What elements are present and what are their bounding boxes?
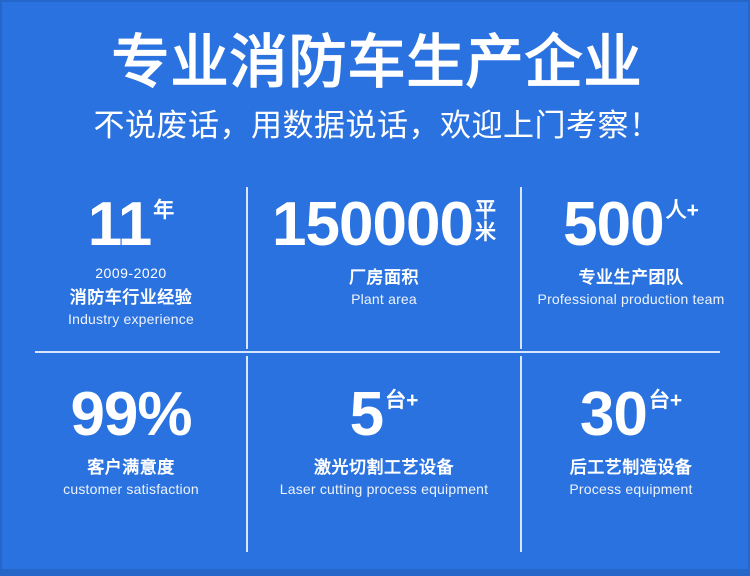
stat-unit: 年 — [153, 188, 174, 222]
stat-card-plant-area: 150000平米 厂房面积 Plant area — [248, 188, 520, 353]
stat-value: 30台+ — [522, 378, 740, 452]
stat-label-cn: 厂房面积 — [248, 266, 520, 289]
stat-label-cn: 客户满意度 — [16, 456, 246, 479]
stat-unit: 人+ — [666, 188, 699, 222]
stat-card-process-equipment: 30台+ 后工艺制造设备 Process equipment — [522, 378, 740, 543]
banner-header: 专业消防车生产企业 不说废话，用数据说话，欢迎上门考察！ — [2, 2, 750, 162]
stat-card-customer-satisfaction: 99% 客户满意度 customer satisfaction — [16, 378, 246, 543]
stat-label-en: Industry experience — [16, 310, 246, 329]
stats-banner: 专业消防车生产企业 不说废话，用数据说话，欢迎上门考察！ 11年 2009-20… — [0, 0, 750, 576]
divider-vertical-left-bottom — [246, 356, 248, 552]
bottom-accent-strip — [2, 569, 750, 574]
stat-label-cn: 专业生产团队 — [522, 266, 740, 289]
stat-value: 99% — [16, 378, 246, 452]
divider-horizontal — [35, 351, 720, 353]
divider-vertical-right-top — [520, 187, 522, 349]
divider-vertical-left-top — [246, 187, 248, 349]
stat-label-cn: 消防车行业经验 — [16, 286, 246, 309]
stats-grid: 11年 2009-2020 消防车行业经验 Industry experienc… — [2, 180, 750, 560]
stat-unit: 台+ — [385, 378, 418, 412]
stat-range: 2009-2020 — [16, 264, 246, 282]
stat-label-cn: 后工艺制造设备 — [522, 456, 740, 479]
stat-unit: 台+ — [649, 378, 682, 412]
stat-value: 5台+ — [248, 378, 520, 452]
stat-label-en: Process equipment — [522, 480, 740, 499]
stat-card-industry-experience: 11年 2009-2020 消防车行业经验 Industry experienc… — [16, 188, 246, 353]
stat-label-en: Plant area — [248, 290, 520, 309]
stat-card-production-team: 500人+ 专业生产团队 Professional production tea… — [522, 188, 740, 353]
stat-unit: 平米 — [475, 188, 496, 244]
stat-label-cn: 激光切割工艺设备 — [248, 456, 520, 479]
stat-value: 500人+ — [522, 188, 740, 262]
stat-label-en: Professional production team — [522, 290, 740, 309]
page-subtitle: 不说废话，用数据说话，欢迎上门考察！ — [2, 106, 750, 146]
divider-vertical-right-bottom — [520, 356, 522, 552]
page-title: 专业消防车生产企业 — [2, 30, 750, 96]
stat-card-laser-cutting-equipment: 5台+ 激光切割工艺设备 Laser cutting process equip… — [248, 378, 520, 543]
stat-value: 150000平米 — [248, 188, 520, 262]
stat-value: 11年 — [16, 188, 246, 262]
stat-label-en: customer satisfaction — [16, 480, 246, 499]
stat-label-en: Laser cutting process equipment — [248, 480, 520, 499]
